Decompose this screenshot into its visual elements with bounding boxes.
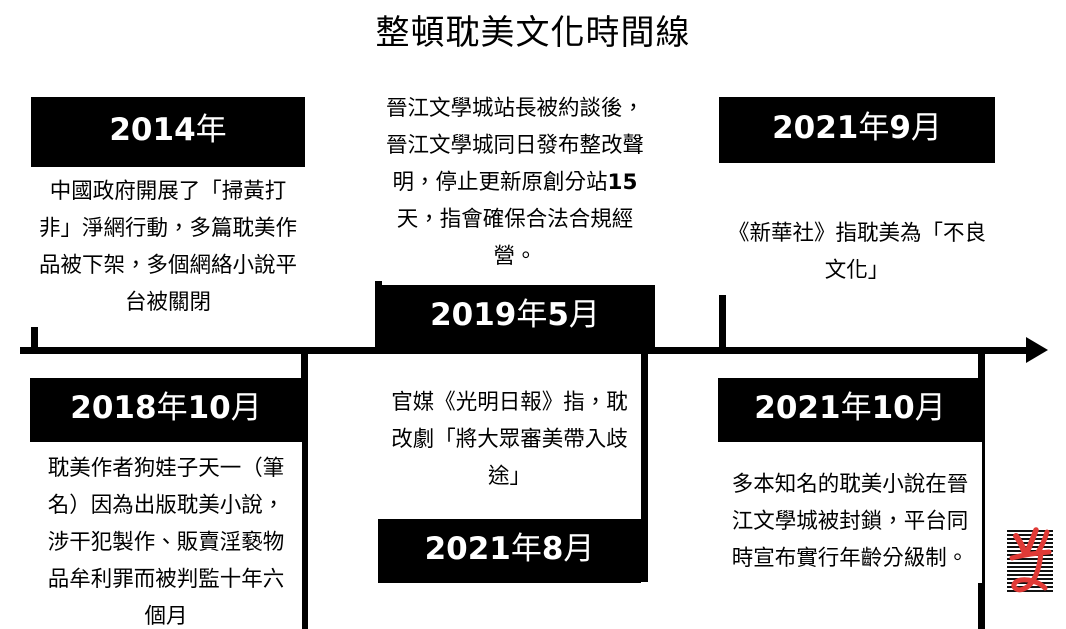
event-body: 多本知名的耽美小說在晉江文學城被封鎖，平台同時宣布實行年齡分級制。 [718, 442, 982, 583]
event-card-2014[interactable]: 2014年 中國政府開展了「掃黃打非」淨網行動，多篇耽美作品被下架，多個網絡小說… [31, 97, 305, 327]
event-body: 《新華社》指耽美為「不良文化」 [719, 163, 995, 295]
event-body: 官媒《光明日報》指，耽改劇「將大眾審美帶入歧途」 [378, 384, 641, 501]
page-title: 整頓耽美文化時間線 [0, 10, 1066, 56]
event-date-label: 2014年 [109, 111, 226, 149]
event-body: 耽美作者狗娃子天一（筆名）因為出版耽美小說，涉干犯製作、販賣淫褻物品牟利罪而被判… [30, 442, 302, 629]
event-body: 中國政府開展了「掃黃打非」淨網行動，多篇耽美作品被下架，多個網絡小說平台被關閉 [31, 167, 305, 327]
publisher-logo [1007, 530, 1053, 592]
connector-stem-2021-08 [641, 351, 648, 582]
event-date-label: 2019年5月 [430, 296, 600, 334]
event-date-badge: 2019年5月 [375, 285, 655, 348]
timeline-axis-line [20, 347, 1034, 354]
event-card-2021-10[interactable]: 2021年10月 多本知名的耽美小說在晉江文學城被封鎖，平台同時宣布實行年齡分級… [718, 378, 982, 583]
event-date-label: 2021年8月 [425, 530, 595, 568]
event-date-badge: 2014年 [31, 97, 305, 167]
timeline-infographic: 整頓耽美文化時間線 2014年 中國政府開展了「掃黃打非」淨網行動，多篇耽美作品… [0, 0, 1066, 629]
event-date-badge: 2021年9月 [719, 97, 995, 163]
event-date-label: 2021年10月 [754, 389, 945, 427]
event-card-2021-08[interactable]: 官媒《光明日報》指，耽改劇「將大眾審美帶入歧途」 2021年8月 [378, 384, 641, 583]
event-body-text: 官媒《光明日報》指，耽改劇「將大眾審美帶入歧途」 [391, 390, 628, 489]
event-body-text: 晉江文學城站長被約談後，晉江文學城同日發布整改聲明，停止更新原創分站15天，指會… [386, 96, 644, 269]
event-card-2019-05[interactable]: 晉江文學城站長被約談後，晉江文學城同日發布整改聲明，停止更新原創分站15天，指會… [375, 90, 655, 348]
event-card-2021-09[interactable]: 2021年9月 《新華社》指耽美為「不良文化」 [719, 97, 995, 295]
event-date-label: 2018年10月 [70, 389, 261, 427]
logo-brush-stroke-icon [1003, 522, 1059, 600]
connector-stem-2018-10 [301, 351, 308, 629]
event-date-badge: 2021年10月 [718, 378, 982, 442]
event-body-text: 多本知名的耽美小說在晉江文學城被封鎖，平台同時宣布實行年齡分級制。 [732, 472, 969, 571]
event-date-label: 2021年9月 [772, 109, 942, 147]
timeline-arrow-icon [1026, 337, 1048, 363]
event-card-2018-10[interactable]: 2018年10月 耽美作者狗娃子天一（筆名）因為出版耽美小說，涉干犯製作、販賣淫… [30, 378, 302, 629]
event-body-text: 中國政府開展了「掃黃打非」淨網行動，多篇耽美作品被下架，多個網絡小說平台被關閉 [39, 179, 297, 315]
event-date-badge: 2018年10月 [30, 378, 302, 442]
event-body: 晉江文學城站長被約談後，晉江文學城同日發布整改聲明，停止更新原創分站15天，指會… [375, 90, 655, 281]
event-body-text: 耽美作者狗娃子天一（筆名）因為出版耽美小說，涉干犯製作、販賣淫褻物品牟利罪而被判… [48, 456, 285, 629]
event-date-badge: 2021年8月 [378, 519, 641, 583]
event-body-text: 《新華社》指耽美為「不良文化」 [728, 221, 986, 283]
